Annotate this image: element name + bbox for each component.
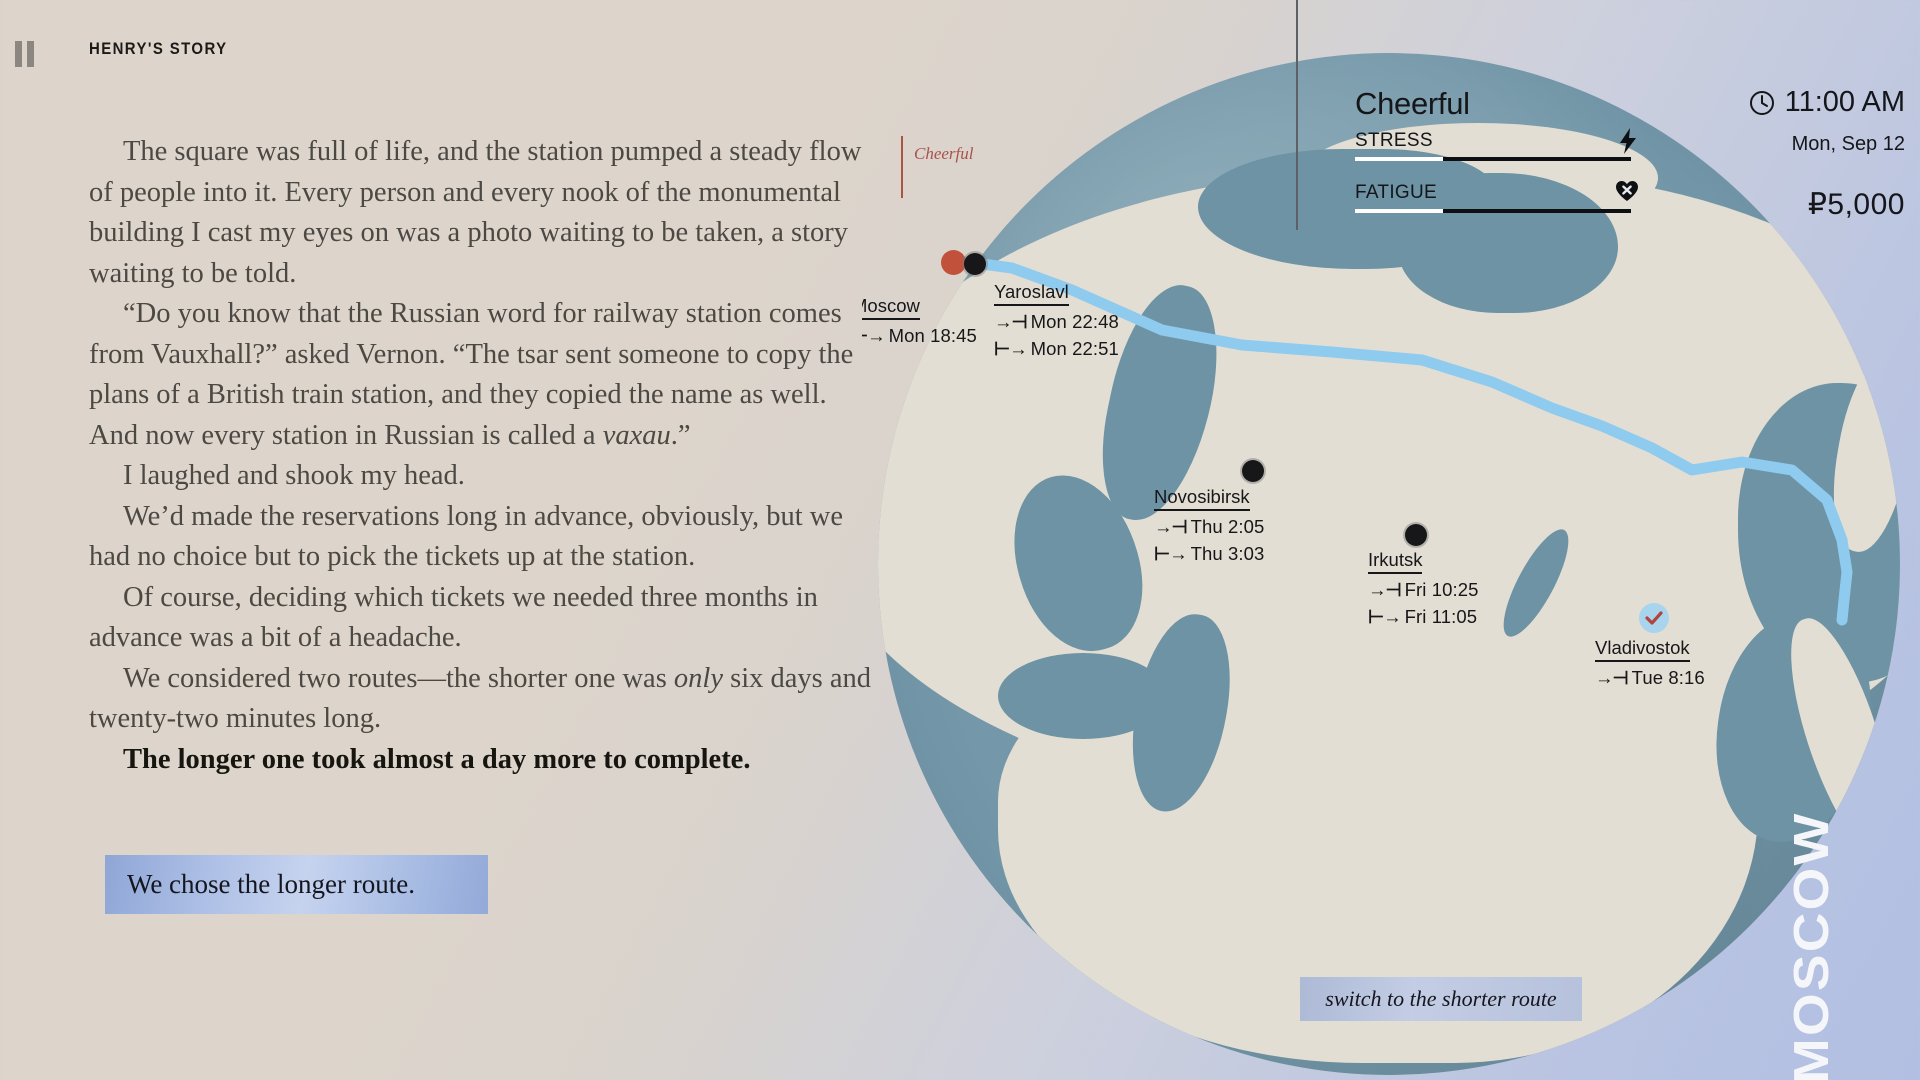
paragraph-2-pre: “Do you know that the Russian word for r… <box>89 298 853 451</box>
station-label-yaroslavl: Yaroslavl →⊣Mon 22:48 ⊢→Mon 22:51 <box>994 281 1164 360</box>
paragraph-5: Of course, deciding which tickets we nee… <box>89 578 875 659</box>
paragraph-6-pre: We considered two routes—the shorter one… <box>123 663 674 694</box>
station-time-arrive: →⊣Fri 10:25 <box>1368 579 1548 601</box>
hud-connector-line <box>1296 0 1298 230</box>
stat-label: FATIGUE <box>1355 182 1631 204</box>
arrive-arrow-icon: →⊣ <box>1154 516 1187 537</box>
station-time-value: Mon 18:45 <box>889 325 977 346</box>
paragraph-bold: The longer one took almost a day more to… <box>89 740 875 781</box>
depart-arrow-icon: ⊢→ <box>1368 606 1401 627</box>
station-time-depart: ⊢→Fri 11:05 <box>1368 606 1548 628</box>
arrive-arrow-icon: →⊣ <box>1368 579 1401 600</box>
station-time-value: Fri 11:05 <box>1405 606 1478 627</box>
station-time-depart: ⊢→Mon 22:51 <box>994 338 1164 360</box>
station-time-value: Thu 2:05 <box>1191 516 1265 537</box>
paragraph-6-italic: only <box>674 663 723 694</box>
depart-arrow-icon: ⊢→ <box>994 338 1027 359</box>
stat-label: STRESS <box>1355 130 1631 152</box>
paragraph-4: We’d made the reservations long in advan… <box>89 497 875 578</box>
station-label-moscow: Moscow ⊢→Mon 18:45 <box>862 295 992 347</box>
map-dot-novosibirsk[interactable] <box>1242 460 1264 482</box>
paragraph-1: The square was full of life, and the sta… <box>89 132 875 294</box>
station-time-arrive: →⊣Mon 22:48 <box>994 311 1164 333</box>
sea-black <box>998 653 1168 739</box>
station-time-value: Mon 22:48 <box>1031 311 1119 332</box>
map-dot-irkutsk[interactable] <box>1405 524 1427 546</box>
station-time-arrive: →⊣Thu 2:05 <box>1154 516 1344 538</box>
station-label-irkutsk: Irkutsk →⊣Fri 10:25 ⊢→Fri 11:05 <box>1368 549 1548 628</box>
broken-heart-icon <box>1615 180 1639 207</box>
station-name: Vladivostok <box>1595 637 1690 662</box>
station-label-vladivostok: Vladivostok →⊣Tue 8:16 <box>1595 637 1785 689</box>
stat-bar <box>1355 157 1631 161</box>
hud-clock: 11:00 AM <box>1655 86 1905 119</box>
lightning-bolt-icon <box>1617 128 1639 159</box>
station-time-depart: ⊢→Thu 3:03 <box>1154 543 1344 565</box>
stat-bar-fill <box>1355 209 1443 213</box>
pause-bar-left <box>15 41 22 67</box>
map-dot-yaroslavl[interactable] <box>964 253 986 275</box>
switch-route-label: switch to the shorter route <box>1325 986 1556 1012</box>
clock-icon <box>1749 90 1775 116</box>
chapter-title: HENRY'S STORY <box>89 39 228 59</box>
station-time-arrive: →⊣Tue 8:16 <box>1595 667 1785 689</box>
station-label-novosibirsk: Novosibirsk →⊣Thu 2:05 ⊢→Thu 3:03 <box>1154 486 1344 565</box>
choice-button-label: We chose the longer route. <box>105 869 415 900</box>
paragraph-6: We considered two routes—the shorter one… <box>89 659 875 740</box>
station-time-depart: ⊢→Mon 18:45 <box>862 325 992 347</box>
station-name: Yaroslavl <box>994 281 1069 306</box>
pause-button[interactable] <box>15 41 39 67</box>
station-name: Irkutsk <box>1368 549 1422 574</box>
origin-city-watermark: MOSCOW <box>1784 826 1840 1069</box>
arrive-arrow-icon: →⊣ <box>994 311 1027 332</box>
paragraph-3: I laughed and shook my head. <box>89 456 875 497</box>
stat-bar-fill <box>1355 157 1443 161</box>
station-time-value: Fri 10:25 <box>1405 579 1479 600</box>
stat-bar <box>1355 209 1631 213</box>
paragraph-2-post: .” <box>671 420 691 451</box>
stat-fatigue: FATIGUE <box>1355 182 1631 213</box>
switch-route-button[interactable]: switch to the shorter route <box>1300 977 1582 1021</box>
map-dot-vladivostok[interactable] <box>1639 603 1669 633</box>
paragraph-2: “Do you know that the Russian word for r… <box>89 294 875 456</box>
origin-city-label: MOSCOW <box>1784 811 1840 1080</box>
check-icon <box>1644 608 1664 628</box>
stat-stress: STRESS <box>1355 130 1631 161</box>
station-time-value: Thu 3:03 <box>1191 543 1265 564</box>
paragraph-2-italic: vaxau <box>603 420 671 451</box>
map-dot-moscow[interactable] <box>941 250 966 275</box>
hud-date-value: Mon, Sep 12 <box>1655 133 1905 156</box>
station-time-value: Mon 22:51 <box>1031 338 1119 359</box>
station-name: Novosibirsk <box>1154 486 1250 511</box>
choice-button-longer-route[interactable]: We chose the longer route. <box>105 855 488 914</box>
depart-arrow-icon: ⊢→ <box>1154 543 1187 564</box>
pause-bar-right <box>27 41 34 67</box>
arrive-arrow-icon: →⊣ <box>1595 667 1628 688</box>
hud-time-value: 11:00 AM <box>1785 86 1905 119</box>
story-text: The square was full of life, and the sta… <box>89 132 875 780</box>
station-name: Moscow <box>862 295 920 320</box>
hud-money-value: ₽5,000 <box>1655 187 1905 222</box>
hud-time-money-panel: 11:00 AM Mon, Sep 12 ₽5,000 <box>1655 86 1905 222</box>
station-time-value: Tue 8:16 <box>1632 667 1705 688</box>
depart-arrow-icon: ⊢→ <box>862 325 885 346</box>
